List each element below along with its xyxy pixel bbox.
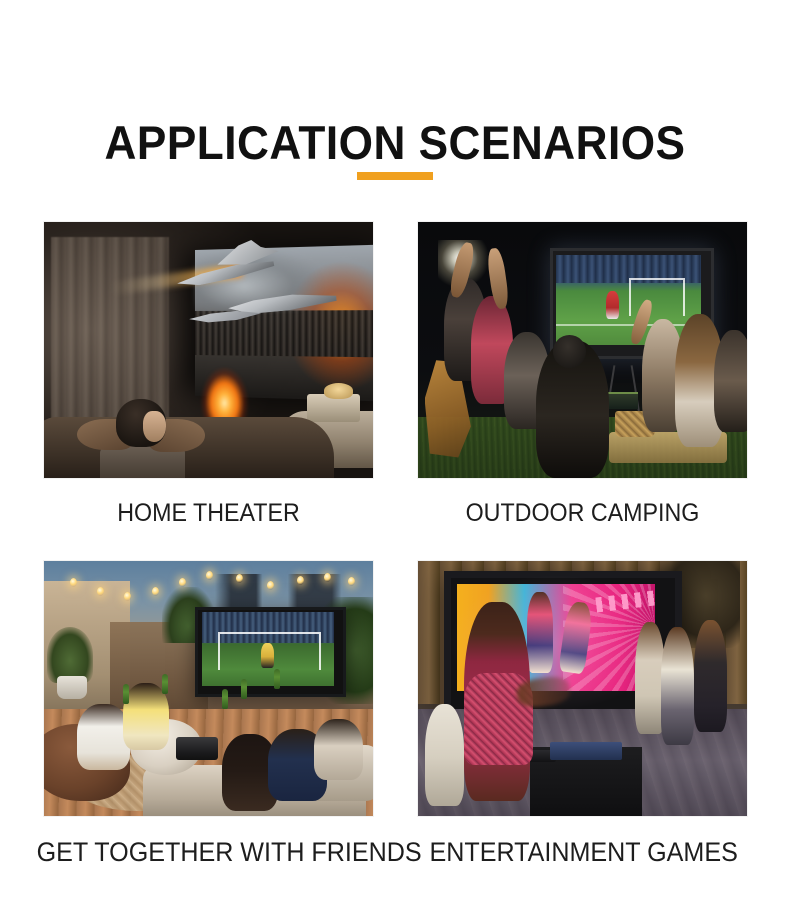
scenario-caption-outdoor-camping: OUTDOOR CAMPING xyxy=(430,498,736,528)
child-silhouette xyxy=(694,620,727,732)
scenario-image-outdoor-camping xyxy=(418,222,747,478)
scenario-caption-entertainment-games: ENTERTAINMENT GAMES xyxy=(430,836,736,868)
scenario-grid xyxy=(0,0,790,912)
viewer-face xyxy=(143,411,166,442)
scenario-caption-get-together: GET TOGETHER WITH FRIENDS xyxy=(37,836,372,868)
scenario-image-home-theater xyxy=(44,222,373,478)
guest-silhouette xyxy=(314,719,363,780)
scenario-card-outdoor-camping[interactable] xyxy=(418,222,747,478)
portable-projector xyxy=(176,737,219,760)
child-silhouette xyxy=(635,622,665,734)
beer-bottle-icon xyxy=(162,674,168,694)
plant-pot xyxy=(57,676,87,699)
light-bulb-icon xyxy=(267,581,274,590)
child-silhouette xyxy=(425,704,464,806)
snack-bowl xyxy=(324,383,354,398)
scenario-card-get-together[interactable] xyxy=(44,561,373,816)
string-lights xyxy=(64,569,367,610)
soccer-player xyxy=(606,291,619,319)
light-bulb-icon xyxy=(324,573,331,582)
light-bulb-icon xyxy=(124,592,131,601)
light-bulb-icon xyxy=(97,587,104,596)
viewer-head xyxy=(553,335,586,368)
scenario-image-entertainment-games xyxy=(418,561,747,816)
scenario-card-home-theater[interactable] xyxy=(44,222,373,478)
light-bulb-icon xyxy=(179,578,186,587)
guest-silhouette xyxy=(77,704,130,770)
scenario-image-get-together xyxy=(44,561,373,816)
projector-device xyxy=(550,742,622,760)
child-silhouette xyxy=(661,627,694,744)
soccer-goal xyxy=(629,278,686,316)
curtain-decor xyxy=(51,237,169,426)
viewer-silhouette xyxy=(714,330,747,432)
light-bulb-icon xyxy=(348,577,355,586)
potted-plant xyxy=(47,627,93,683)
beer-bottle-icon xyxy=(222,689,228,709)
pitch-line xyxy=(556,324,701,326)
beer-bottle-icon xyxy=(123,684,129,704)
goalkeeper xyxy=(261,643,274,669)
light-bulb-icon xyxy=(297,576,304,585)
light-bulb-icon xyxy=(152,587,159,596)
scenario-card-entertainment-games[interactable] xyxy=(418,561,747,816)
light-bulb-icon xyxy=(206,571,213,580)
light-bulb-icon xyxy=(236,574,243,583)
scenario-caption-home-theater: HOME THEATER xyxy=(56,498,362,528)
beer-bottle-icon xyxy=(274,669,280,689)
beer-bottle-icon xyxy=(241,679,247,699)
light-bulb-icon xyxy=(70,578,77,587)
